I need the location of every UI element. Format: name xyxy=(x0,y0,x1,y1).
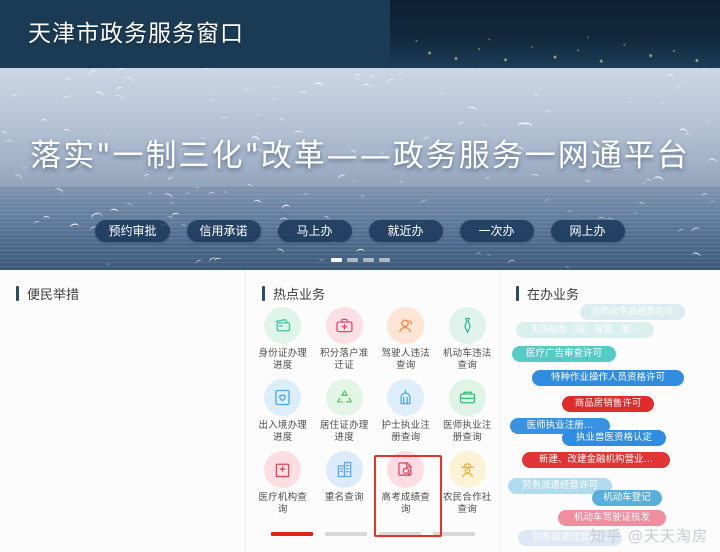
ongoing-tag-11[interactable]: 机动车驾驶证核发 xyxy=(558,510,666,526)
service-item-3[interactable]: 驾驶人违法查询 xyxy=(375,304,437,372)
service-item-5[interactable]: 出入境办理进度 xyxy=(252,376,314,444)
ongoing-tag-5[interactable]: 商品房销售许可 xyxy=(562,396,654,412)
pagination-bar-2[interactable] xyxy=(325,532,367,536)
carousel-dot-2[interactable] xyxy=(347,258,358,262)
service-label: 护士执业注册查询 xyxy=(378,420,434,444)
watermark: 知乎 @天天淘房 xyxy=(590,525,708,546)
service-label: 农民合作社查询 xyxy=(439,492,495,516)
service-item-1[interactable]: 身份证办理进度 xyxy=(252,304,314,372)
column-ongoing-services: 在办业务 危险化学品经营许可无场站台（站）设置、使…医疗广告审查许可特种作业操作… xyxy=(500,270,720,552)
hero-nav-pills: 预约审批信用承诺马上办就近办一次办网上办 xyxy=(0,220,720,242)
hero-banner: 落实"一制三化"改革——政务服务一网通平台 预约审批信用承诺马上办就近办一次办网… xyxy=(0,68,720,270)
nav-pill-2[interactable]: 信用承诺 xyxy=(187,220,261,242)
section-title-text: 热点业务 xyxy=(273,284,325,303)
section-accent-bar xyxy=(16,286,19,301)
id-card-icon xyxy=(264,307,301,344)
service-label: 机动车违法查询 xyxy=(439,348,495,372)
pagination-bar-1[interactable] xyxy=(271,532,313,536)
hospital-icon xyxy=(264,451,301,488)
service-label: 高考成绩查询 xyxy=(378,492,434,516)
ongoing-tag-8[interactable]: 新建、改建金融机构营业… xyxy=(522,452,670,468)
medical-kit-icon xyxy=(326,307,363,344)
service-label: 驾驶人违法查询 xyxy=(378,348,434,372)
column-convenience-measures: 便民举措 xyxy=(0,270,246,552)
column-hot-services: 热点业务 身份证办理进度积分落户准迁证驾驶人违法查询机动车违法查询出入境办理进度… xyxy=(246,270,500,552)
ongoing-tag-4[interactable]: 特种作业操作人员资格许可 xyxy=(532,370,684,386)
pagination-bar-4[interactable] xyxy=(433,532,475,536)
service-item-2[interactable]: 积分落户准迁证 xyxy=(314,304,376,372)
header-cityscape-image xyxy=(390,0,720,68)
doctor-case-icon xyxy=(449,379,486,416)
ongoing-tag-10[interactable]: 机动车登记 xyxy=(592,490,662,506)
service-label: 居住证办理进度 xyxy=(316,420,372,444)
service-item-4[interactable]: 机动车违法查询 xyxy=(437,304,499,372)
carousel-dot-1[interactable] xyxy=(331,258,342,262)
service-pagination[interactable] xyxy=(254,532,492,536)
farmer-icon xyxy=(449,451,486,488)
content-area: 便民举措 热点业务 身份证办理进度积分落户准迁证驾驶人违法查询机动车违法查询出入… xyxy=(0,270,720,552)
service-label: 重名查询 xyxy=(316,492,372,504)
recycle-icon xyxy=(326,379,363,416)
ongoing-tag-7[interactable]: 执业兽医资格认定 xyxy=(562,430,666,446)
service-label: 积分落户准迁证 xyxy=(316,348,372,372)
passport-heart-icon xyxy=(264,379,301,416)
hero-carousel-dots[interactable] xyxy=(0,258,720,262)
service-grid: 身份证办理进度积分落户准迁证驾驶人违法查询机动车违法查询出入境办理进度居住证办理… xyxy=(252,304,498,516)
exam-search-icon xyxy=(387,451,424,488)
section-accent-bar xyxy=(516,286,519,301)
service-item-9[interactable]: 医疗机构查询 xyxy=(252,448,314,516)
necktie-icon xyxy=(449,307,486,344)
ongoing-tag-3[interactable]: 医疗广告审查许可 xyxy=(512,346,616,362)
driver-person-icon xyxy=(387,307,424,344)
pagination-bar-3[interactable] xyxy=(379,532,421,536)
page-title: 天津市政务服务窗口 xyxy=(28,14,244,48)
nav-pill-4[interactable]: 就近办 xyxy=(369,220,443,242)
service-item-11[interactable]: 高考成绩查询 xyxy=(375,448,437,516)
carousel-dot-3[interactable] xyxy=(363,258,374,262)
ongoing-tag-1[interactable]: 危险化学品经营许可 xyxy=(580,304,685,320)
service-item-10[interactable]: 重名查询 xyxy=(314,448,376,516)
page-root: 天津市政务服务窗口 落实"一制三化"改革——政务服务一网通平台 预约审批信用承诺… xyxy=(0,0,720,552)
service-label: 身份证办理进度 xyxy=(255,348,311,372)
service-label: 出入境办理进度 xyxy=(255,420,311,444)
nurse-cap-icon xyxy=(387,379,424,416)
section-title-convenience: 便民举措 xyxy=(16,285,245,301)
section-title-text: 在办业务 xyxy=(527,284,579,303)
section-title-text: 便民举措 xyxy=(27,284,79,303)
tag-cloud: 危险化学品经营许可无场站台（站）设置、使…医疗广告审查许可特种作业操作人员资格许… xyxy=(500,302,720,534)
building-icon xyxy=(326,451,363,488)
nav-pill-3[interactable]: 马上办 xyxy=(278,220,352,242)
section-accent-bar xyxy=(262,286,265,301)
ongoing-tag-2[interactable]: 无场站台（站）设置、使… xyxy=(516,322,654,338)
nav-pill-1[interactable]: 预约审批 xyxy=(95,220,169,242)
carousel-dot-4[interactable] xyxy=(379,258,390,262)
service-label: 医师执业注册查询 xyxy=(439,420,495,444)
section-title-hot: 热点业务 xyxy=(262,285,499,301)
service-label: 医疗机构查询 xyxy=(255,492,311,516)
site-header: 天津市政务服务窗口 xyxy=(0,0,720,68)
service-item-7[interactable]: 护士执业注册查询 xyxy=(375,376,437,444)
service-item-8[interactable]: 医师执业注册查询 xyxy=(437,376,499,444)
nav-pill-5[interactable]: 一次办 xyxy=(460,220,534,242)
hero-slogan: 落实"一制三化"改革——政务服务一网通平台 xyxy=(0,130,720,175)
section-title-ongoing: 在办业务 xyxy=(516,285,720,301)
service-item-12[interactable]: 农民合作社查询 xyxy=(437,448,499,516)
service-item-6[interactable]: 居住证办理进度 xyxy=(314,376,376,444)
nav-pill-6[interactable]: 网上办 xyxy=(551,220,625,242)
